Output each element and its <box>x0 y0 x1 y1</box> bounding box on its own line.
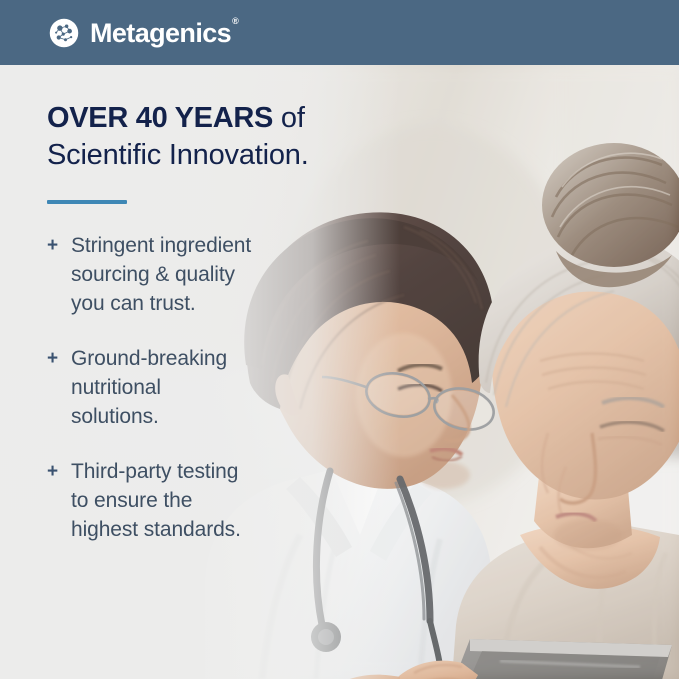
plus-icon: + <box>47 345 71 372</box>
brand-logo-lockup[interactable]: Metagenics® <box>49 18 238 48</box>
plus-icon: + <box>47 232 71 259</box>
accent-divider <box>47 200 127 204</box>
list-item-label: Third-party testing to ensure the highes… <box>71 458 241 545</box>
headline-line-two: Scientific Innovation. <box>47 137 377 174</box>
list-item-label: Stringent ingredient sourcing & quality … <box>71 232 251 319</box>
brand-name-text: Metagenics <box>90 18 231 48</box>
list-item-label: Ground-breaking nutritional solutions. <box>71 345 227 432</box>
advertisement-banner: Metagenics® <box>0 0 679 679</box>
metagenics-molecule-icon <box>49 18 79 48</box>
headline-remainder: of <box>273 102 305 134</box>
copy-block: OVER 40 YEARS of Scientific Innovation. … <box>47 100 377 571</box>
brand-header-bar: Metagenics® <box>0 0 679 65</box>
headline-emphasis: OVER 40 YEARS <box>47 102 273 134</box>
list-item: + Third-party testing to ensure the high… <box>47 458 377 545</box>
list-item: + Ground-breaking nutritional solutions. <box>47 345 377 432</box>
benefits-list: + Stringent ingredient sourcing & qualit… <box>47 232 377 545</box>
brand-name: Metagenics® <box>90 20 238 47</box>
plus-icon: + <box>47 458 71 485</box>
page-title: OVER 40 YEARS of Scientific Innovation. <box>47 100 377 174</box>
registered-trademark-symbol: ® <box>232 16 239 26</box>
list-item: + Stringent ingredient sourcing & qualit… <box>47 232 377 319</box>
